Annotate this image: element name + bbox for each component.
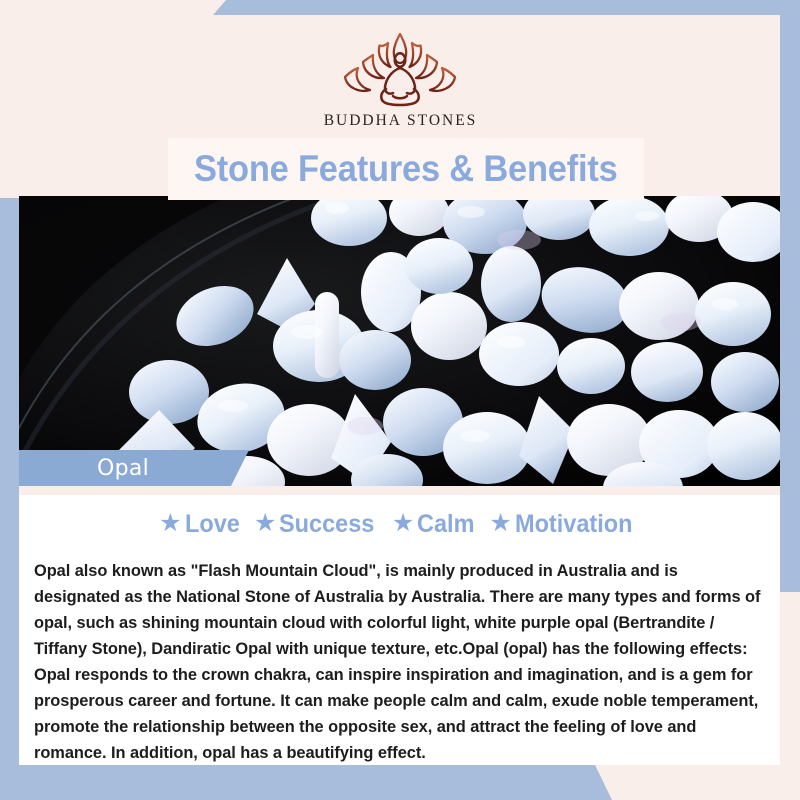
benefit-label: Motivation bbox=[515, 510, 633, 539]
page-title-ribbon: Stone Features & Benefits bbox=[168, 138, 644, 200]
benefit-item-motivation: ★ Motivation bbox=[489, 510, 639, 539]
benefit-item-success: ★ Success bbox=[254, 510, 381, 539]
left-accent-rail bbox=[0, 198, 19, 768]
stone-description: Opal also known as "Flash Mountain Cloud… bbox=[34, 558, 762, 766]
benefit-label: Success bbox=[279, 510, 374, 539]
star-icon: ★ bbox=[489, 511, 511, 536]
content-panel: ★ Love ★ Success ★ Calm ★ Motivation Opa… bbox=[19, 486, 780, 765]
stone-name-label: Opal bbox=[19, 450, 249, 486]
benefit-label: Calm bbox=[417, 510, 474, 539]
lotus-meditation-logo-icon bbox=[340, 31, 460, 109]
star-icon: ★ bbox=[159, 511, 181, 536]
stone-name-text: Opal bbox=[97, 456, 149, 481]
star-icon: ★ bbox=[392, 511, 414, 536]
right-accent-rail bbox=[780, 0, 800, 592]
benefit-item-calm: ★ Calm bbox=[392, 510, 479, 539]
brand-logo-block: BUDDHA STONES bbox=[19, 31, 780, 130]
benefit-item-love: ★ Love bbox=[159, 510, 243, 539]
panel-top-divider bbox=[19, 486, 780, 495]
hero-image bbox=[19, 196, 780, 486]
brand-name: BUDDHA STONES bbox=[322, 112, 478, 130]
page-title: Stone Features & Benefits bbox=[194, 148, 618, 190]
bottom-accent-bar bbox=[0, 765, 800, 800]
star-icon: ★ bbox=[254, 511, 276, 536]
top-accent-banner bbox=[0, 0, 800, 15]
benefit-label: Love bbox=[185, 510, 240, 539]
benefits-row: ★ Love ★ Success ★ Calm ★ Motivation bbox=[19, 510, 780, 539]
